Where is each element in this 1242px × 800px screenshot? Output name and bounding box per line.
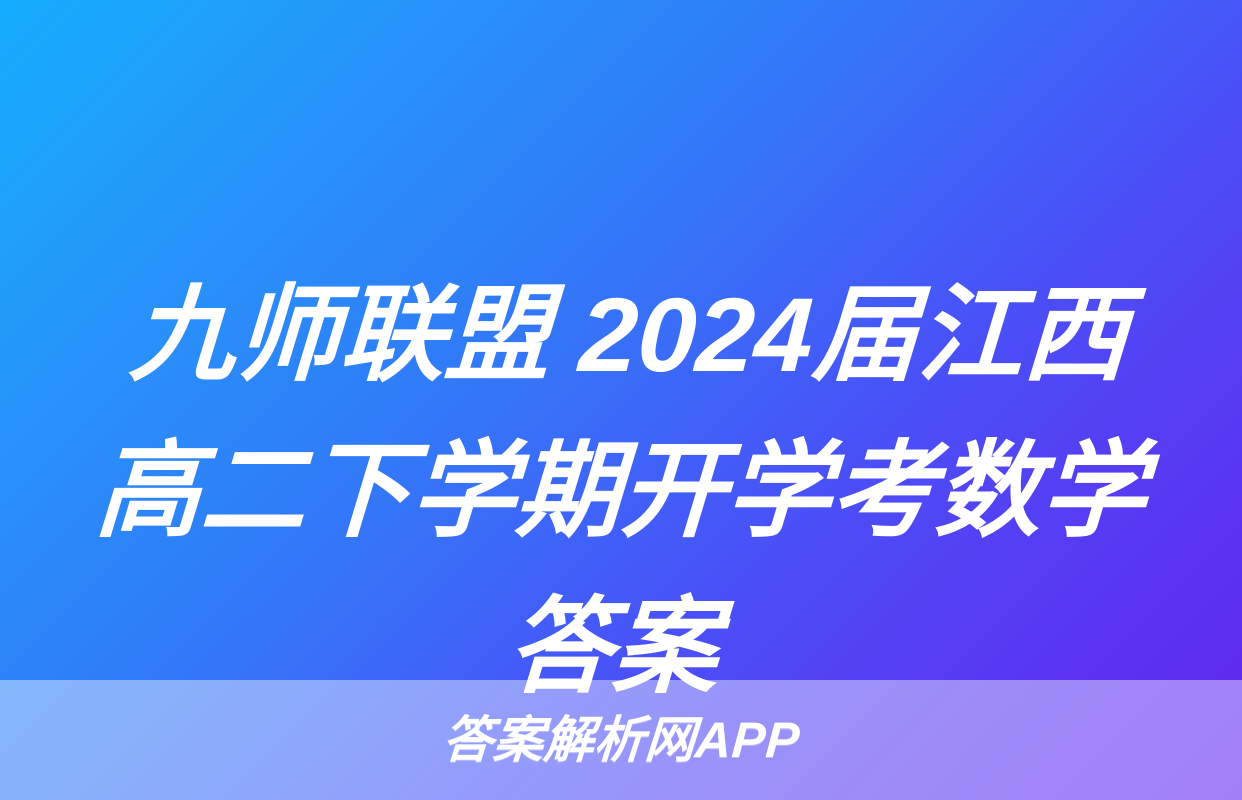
footer-brand-strip: 答案解析网APP (0, 680, 1242, 800)
page-title: 九师联盟 2024届江西高二下学期开学考数学答案 (60, 258, 1183, 726)
promo-banner: 九师联盟 2024届江西高二下学期开学考数学答案 答案解析网APP (0, 0, 1242, 800)
app-brand-label: 答案解析网APP (441, 711, 802, 769)
headline-container: 九师联盟 2024届江西高二下学期开学考数学答案 (0, 258, 1242, 726)
